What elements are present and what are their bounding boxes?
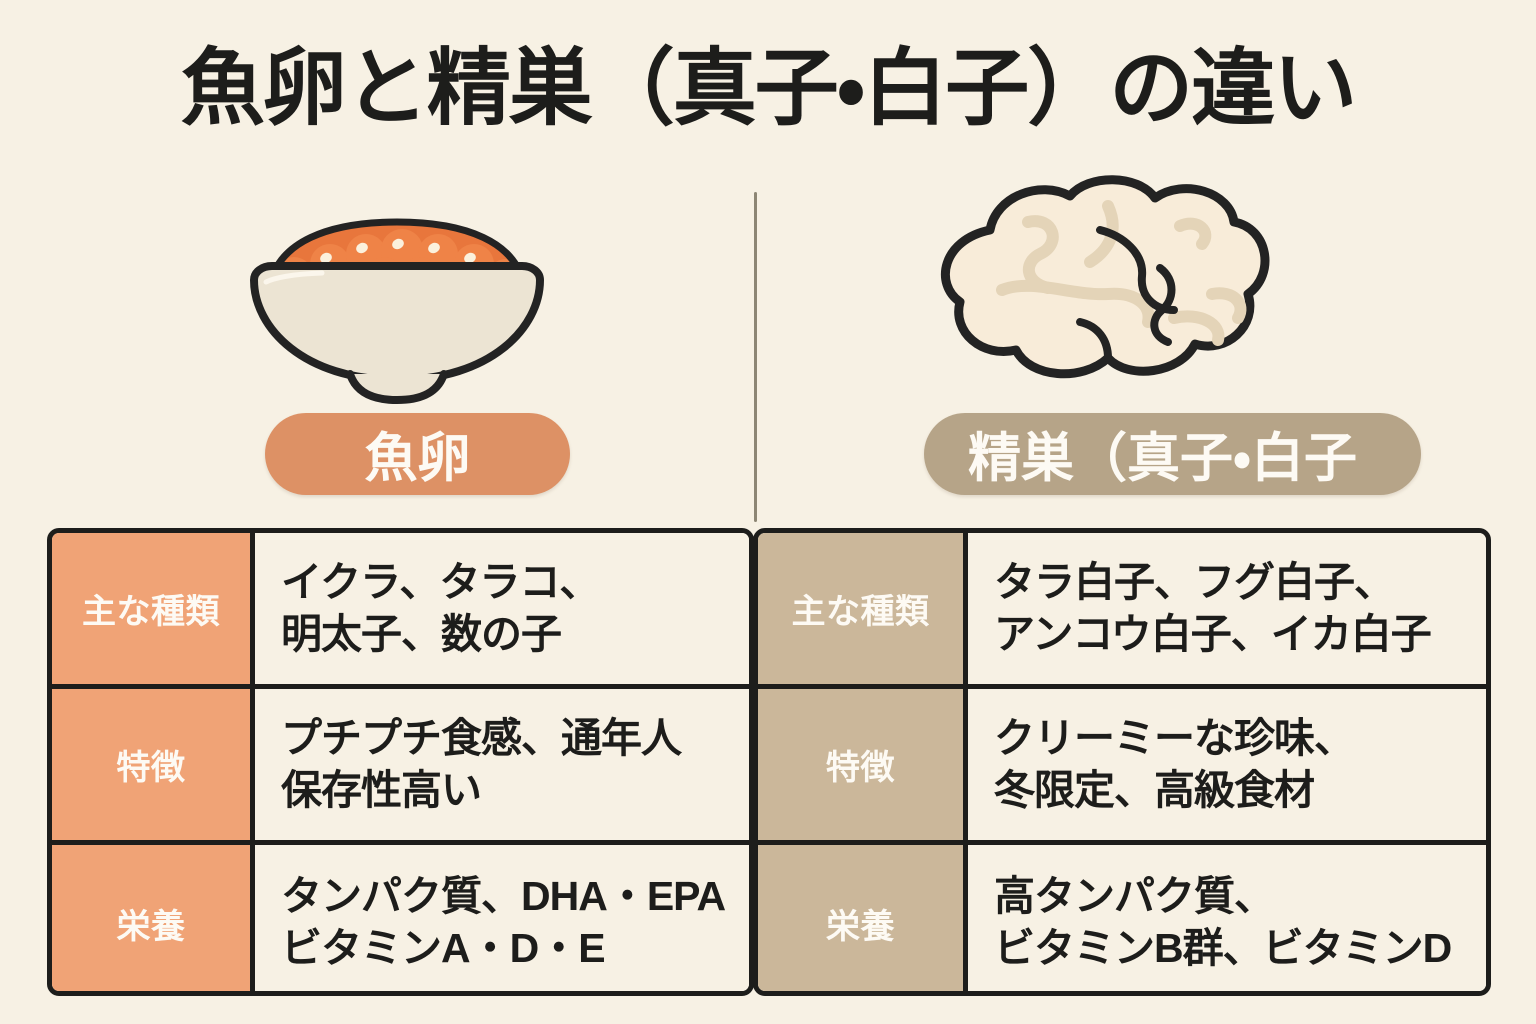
shirako-milt-icon [912, 170, 1282, 400]
table-row: 栄養 高タンパク質、 ビタミンB群、ビタミンD [758, 845, 1486, 996]
row-label: 栄養 [758, 845, 968, 996]
row-content-line: タラ白子、フグ白子、 [994, 557, 1486, 609]
infographic-page: 魚卵と精巣（真子・白子）の違い [0, 0, 1536, 1024]
row-content-line: イクラ、タラコ、 [281, 557, 749, 609]
row-content-line: タンパク質、DHA・EPA [281, 871, 749, 923]
row-content: タンパク質、DHA・EPA ビタミンA・D・E [255, 845, 749, 996]
table-row: 主な種類 イクラ、タラコ、 明太子、数の子 [52, 533, 749, 689]
row-content: タラ白子、フグ白子、 アンコウ白子、イカ白子 [968, 533, 1486, 684]
badge-right-label: 精巣（真子・白子 [968, 416, 1357, 492]
row-content-line: プチプチ食感、通年人 [281, 713, 749, 765]
row-content-line: 高タンパク質、 [994, 871, 1486, 923]
row-label: 主な種類 [52, 533, 255, 684]
row-label: 特徴 [52, 689, 255, 840]
row-content-line: クリーミーな珍味、 [994, 713, 1486, 765]
row-content-line: 冬限定、高級食材 [994, 765, 1486, 817]
comparison-table-left: 主な種類 イクラ、タラコ、 明太子、数の子 特徴 プチプチ食感、通年人 保存性高… [47, 528, 754, 996]
table-row: 特徴 クリーミーな珍味、 冬限定、高級食材 [758, 689, 1486, 845]
row-content-line: ビタミンA・D・E [281, 923, 749, 975]
row-content-line: アンコウ白子、イカ白子 [994, 609, 1486, 661]
row-content-line: ビタミンB群、ビタミンD [994, 923, 1486, 975]
comparison-table-right: 主な種類 タラ白子、フグ白子、 アンコウ白子、イカ白子 特徴 クリーミーな珍味、… [753, 528, 1491, 996]
page-title: 魚卵と精巣（真子・白子）の違い [0, 44, 1536, 132]
table-row: 特徴 プチプチ食感、通年人 保存性高い [52, 689, 749, 845]
row-label: 主な種類 [758, 533, 968, 684]
row-content: イクラ、タラコ、 明太子、数の子 [255, 533, 749, 684]
table-row: 栄養 タンパク質、DHA・EPA ビタミンA・D・E [52, 845, 749, 996]
row-content-line: 保存性高い [281, 765, 749, 817]
row-content: プチプチ食感、通年人 保存性高い [255, 689, 749, 840]
badge-right: 精巣（真子・白子 [924, 413, 1421, 495]
bowl-of-ikura-icon [232, 168, 562, 408]
badge-left: 魚卵 [265, 413, 570, 495]
row-label: 特徴 [758, 689, 968, 840]
table-row: 主な種類 タラ白子、フグ白子、 アンコウ白子、イカ白子 [758, 533, 1486, 689]
column-divider [754, 192, 757, 522]
row-label: 栄養 [52, 845, 255, 996]
row-content: 高タンパク質、 ビタミンB群、ビタミンD [968, 845, 1486, 996]
row-content-line: 明太子、数の子 [281, 609, 749, 661]
badge-left-label: 魚卵 [365, 416, 471, 492]
row-content: クリーミーな珍味、 冬限定、高級食材 [968, 689, 1486, 840]
